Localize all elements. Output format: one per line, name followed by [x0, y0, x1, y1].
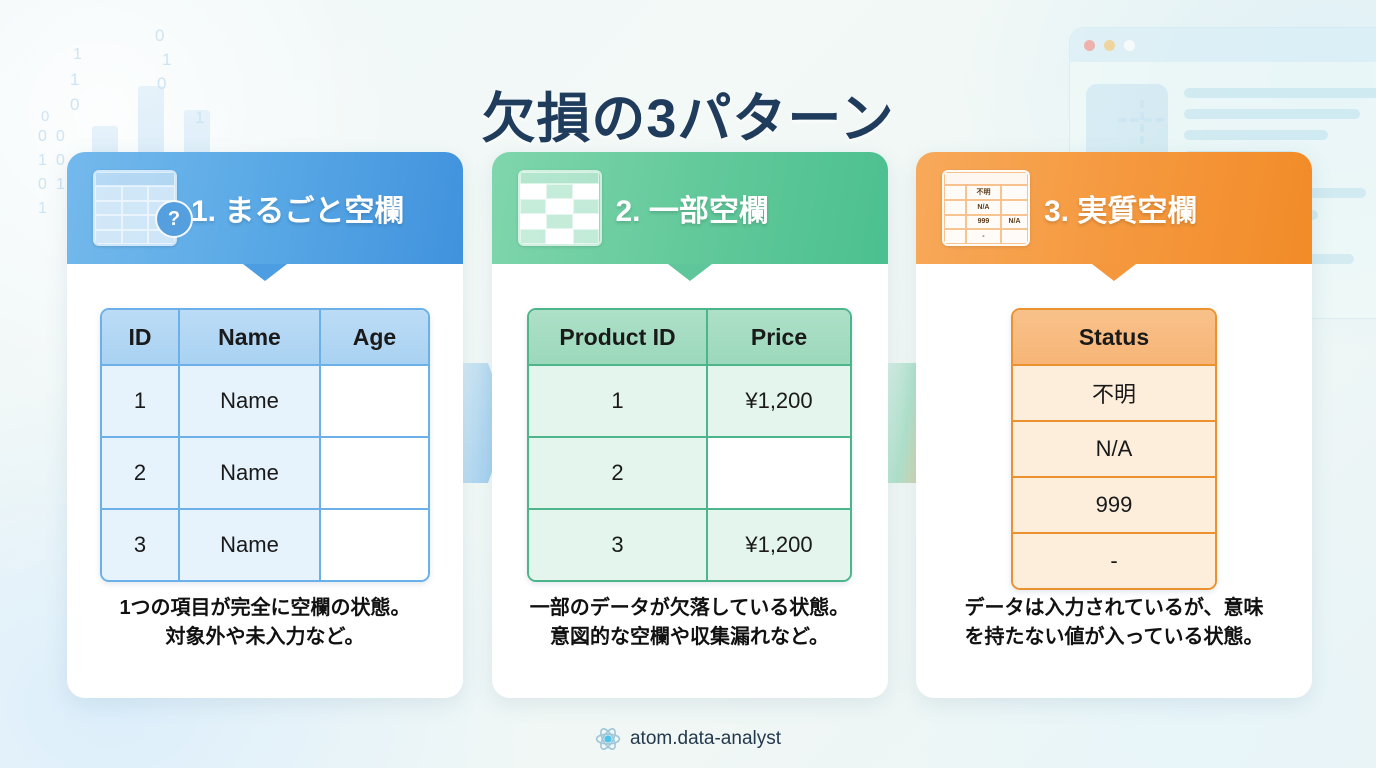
binary-digit: 1 [56, 176, 65, 194]
browser-dot-maximize [1124, 40, 1135, 51]
table-header-row: Product ID Price [529, 310, 850, 366]
card-1-header-tail [243, 264, 287, 281]
table-cell: - [1013, 534, 1215, 588]
card-3-caption: データは入力されているが、意味 を持たない値が入っている状態。 [947, 594, 1282, 698]
card-2-header-tail [668, 264, 712, 281]
card-1-title: 1. まるごと空欄 [191, 186, 404, 230]
table-row: - [1013, 534, 1215, 588]
table-placeholder-values-icon: 不明 N/A 999N/A - [942, 170, 1030, 246]
table-column-header: Price [708, 310, 850, 366]
icon-cell: N/A [1001, 215, 1028, 230]
icon-cell: - [966, 229, 1001, 244]
table-column-header: Product ID [529, 310, 708, 366]
table-cell-empty [708, 438, 850, 510]
table-column-header: Status [1013, 310, 1215, 366]
table-cell: 999 [1013, 478, 1215, 534]
binary-digit: 1 [162, 50, 171, 70]
table-cell: 1 [102, 366, 180, 438]
table-row: 2 Name [102, 438, 428, 510]
icon-cell: N/A [966, 200, 1001, 215]
card-3-caption-line1: データは入力されているが、意味 [965, 594, 1264, 623]
browser-dot-close [1084, 40, 1095, 51]
table-cell: 2 [102, 438, 180, 510]
card-2-title: 2. 一部空欄 [616, 186, 769, 230]
table-cell: 1 [529, 366, 708, 438]
table-row: 1 Name [102, 366, 428, 438]
binary-digit: 1 [38, 152, 47, 170]
table-column-header: Age [321, 310, 428, 366]
table-row: 2 [529, 438, 850, 510]
card-pattern-3[interactable]: 不明 N/A 999N/A - 3. 実質空欄 Status 不明 [916, 152, 1312, 698]
table-cell-empty [321, 510, 428, 580]
binary-digit: 0 [155, 26, 164, 46]
table-cell: 3 [529, 510, 708, 580]
card-pattern-2[interactable]: 2. 一部空欄 Product ID Price 1 ¥1,200 [492, 152, 888, 698]
icon-cell: 999 [966, 215, 1001, 230]
table-cell: 3 [102, 510, 180, 580]
card-2-caption-line2: 意図的な空欄や収集漏れなど。 [530, 623, 849, 652]
table-cell: Name [180, 438, 321, 510]
binary-digit: 1 [73, 46, 82, 64]
table-missing-whole-column: ID Name Age 1 Name 2 Name [100, 308, 430, 582]
card-2-icon-wrap [518, 170, 602, 246]
table-header-row: ID Name Age [102, 310, 428, 366]
table-cell: 2 [529, 438, 708, 510]
table-header-row: Status [1013, 310, 1215, 366]
table-cell: N/A [1013, 422, 1215, 478]
page-title: 欠損の3パターン [0, 74, 1376, 153]
card-2-body: Product ID Price 1 ¥1,200 2 3 ¥ [492, 264, 888, 698]
card-3-body: Status 不明 N/A 999 - [916, 264, 1312, 698]
footer-label: atom.data-analyst [630, 728, 781, 750]
icon-cell: 不明 [966, 185, 1001, 200]
table-cell-empty [321, 438, 428, 510]
atom-icon [595, 726, 621, 752]
table-cell: Name [180, 366, 321, 438]
browser-dot-minimize [1104, 40, 1115, 51]
card-3-icon-wrap: 不明 N/A 999N/A - [942, 170, 1030, 246]
table-row: 3 ¥1,200 [529, 510, 850, 580]
binary-digit: 0 [56, 152, 65, 170]
table-column-header: Name [180, 310, 321, 366]
card-2-header: 2. 一部空欄 [492, 152, 888, 264]
card-3-caption-line2: を持たない値が入っている状態。 [965, 623, 1264, 652]
card-2-caption-line1: 一部のデータが欠落している状態。 [530, 594, 849, 623]
card-1-caption: 1つの項目が完全に空欄の状態。 対象外や未入力など。 [101, 594, 428, 698]
table-partial-missing: Product ID Price 1 ¥1,200 2 3 ¥ [527, 308, 852, 582]
question-mark-icon: ? [155, 200, 193, 238]
card-3-header-tail [1092, 264, 1136, 281]
card-pattern-1[interactable]: ? 1. まるごと空欄 ID Name Age 1 Name [67, 152, 463, 698]
card-3-title: 3. 実質空欄 [1044, 186, 1197, 230]
browser-titlebar [1070, 28, 1376, 62]
table-row: 不明 [1013, 366, 1215, 422]
card-1-caption-line2: 対象外や未入力など。 [119, 623, 410, 652]
table-partial-empty-icon [518, 170, 602, 246]
binary-digit: 0 [38, 176, 47, 194]
card-1-header: ? 1. まるごと空欄 [67, 152, 463, 264]
card-3-header: 不明 N/A 999N/A - 3. 実質空欄 [916, 152, 1312, 264]
table-cell: Name [180, 510, 321, 580]
table-cell: ¥1,200 [708, 366, 850, 438]
table-row: 3 Name [102, 510, 428, 580]
table-row: 1 ¥1,200 [529, 366, 850, 438]
footer: atom.data-analyst [0, 726, 1376, 752]
card-1-caption-line1: 1つの項目が完全に空欄の状態。 [119, 594, 410, 623]
table-placeholder-values: Status 不明 N/A 999 - [1011, 308, 1217, 590]
table-cell-empty [321, 366, 428, 438]
table-cell: ¥1,200 [708, 510, 850, 580]
table-column-header: ID [102, 310, 180, 366]
cards-container: ? 1. まるごと空欄 ID Name Age 1 Name [67, 152, 1312, 698]
table-cell: 不明 [1013, 366, 1215, 422]
table-row: N/A [1013, 422, 1215, 478]
table-row: 999 [1013, 478, 1215, 534]
card-2-caption: 一部のデータが欠落している状態。 意図的な空欄や収集漏れなど。 [512, 594, 867, 698]
card-1-icon-wrap: ? [93, 170, 177, 246]
card-1-body: ID Name Age 1 Name 2 Name [67, 264, 463, 698]
binary-digit: 1 [38, 200, 47, 218]
